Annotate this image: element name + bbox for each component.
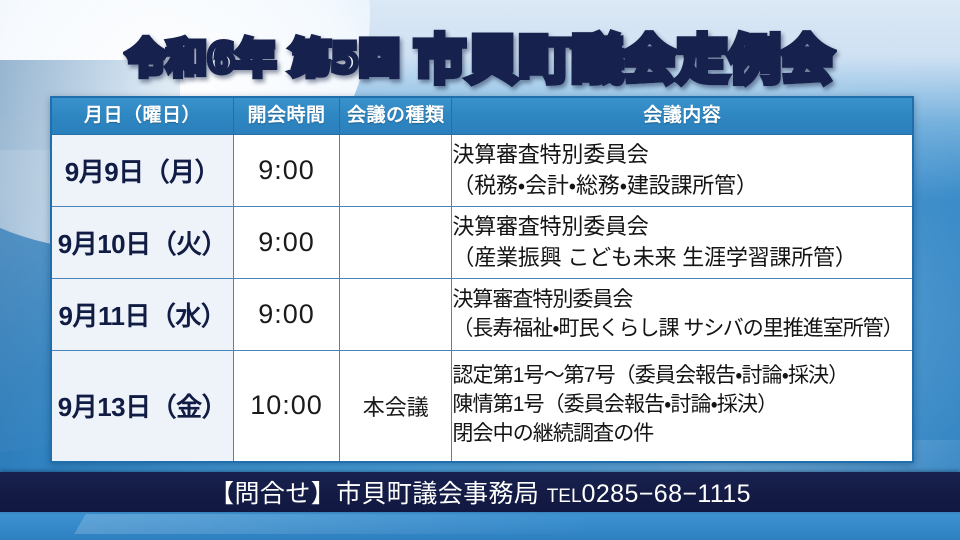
title-lead-text: 令和6年 第5回: [126, 26, 400, 84]
cell-time: 9:00: [233, 279, 339, 351]
content-line: （産業振興 こども未来 生涯学習課所管）: [452, 243, 912, 273]
contact-text: 【問合せ】市貝町議会事務局 TEL0285−68−1115: [209, 474, 751, 510]
content-line: （長寿福祉・町民くらし課 サシバの里推進室所管）: [452, 315, 912, 344]
cell-type: 本会議: [340, 351, 452, 462]
content-line: 認定第1号〜第7号（委員会報告・討論・採決）: [452, 362, 912, 391]
cell-type: [340, 207, 452, 279]
cell-date: 9月9日（月）: [51, 135, 233, 207]
table-header-row: 月日（曜日） 開会時間 会議の種類 会議内容: [51, 97, 913, 135]
page-title: 令和6年 第5回 市貝町議会定例会: [0, 22, 960, 88]
column-header-type: 会議の種類: [340, 97, 452, 135]
contact-phone-number: 0285−68−1115: [582, 480, 751, 508]
contact-label: 【問合せ】市貝町議会事務局: [209, 480, 539, 508]
table-row: 9月11日（水） 9:00 決算審査特別委員会 （長寿福祉・町民くらし課 サシバ…: [51, 279, 913, 351]
cell-content: 決算審査特別委員会 （税務・会計・総務・建設課所管）: [452, 135, 913, 207]
cell-time: 9:00: [233, 207, 339, 279]
cell-date: 9月13日（金）: [51, 351, 233, 462]
cell-date: 9月11日（水）: [51, 279, 233, 351]
table-row: 9月10日（火） 9:00 決算審査特別委員会 （産業振興 こども未来 生涯学習…: [51, 207, 913, 279]
contact-bar: 【問合せ】市貝町議会事務局 TEL0285−68−1115: [0, 472, 960, 512]
background-bottom-sheen: [74, 514, 726, 534]
cell-date: 9月10日（火）: [51, 207, 233, 279]
title-main-text: 市貝町議会定例会: [414, 18, 834, 93]
cell-content: 認定第1号〜第7号（委員会報告・討論・採決） 陳情第1号（委員会報告・討論・採決…: [452, 351, 913, 462]
content-line: 決算審査特別委員会: [452, 286, 912, 315]
cell-time: 9:00: [233, 135, 339, 207]
cell-content: 決算審査特別委員会 （長寿福祉・町民くらし課 サシバの里推進室所管）: [452, 279, 913, 351]
column-header-content: 会議内容: [452, 97, 913, 135]
tel-icon: TEL: [547, 486, 582, 507]
cell-content: 決算審査特別委員会 （産業振興 こども未来 生涯学習課所管）: [452, 207, 913, 279]
content-line: 決算審査特別委員会: [452, 212, 912, 242]
schedule-table: 月日（曜日） 開会時間 会議の種類 会議内容 9月9日（月） 9:00 決算審査…: [50, 96, 914, 463]
cell-time: 10:00: [233, 351, 339, 462]
column-header-date: 月日（曜日）: [51, 97, 233, 135]
table-row: 9月13日（金） 10:00 本会議 認定第1号〜第7号（委員会報告・討論・採決…: [51, 351, 913, 462]
content-line: （税務・会計・総務・建設課所管）: [452, 171, 912, 201]
table-row: 9月9日（月） 9:00 決算審査特別委員会 （税務・会計・総務・建設課所管）: [51, 135, 913, 207]
cell-type: [340, 279, 452, 351]
cell-type: [340, 135, 452, 207]
content-line: 閉会中の継続調査の件: [452, 420, 912, 449]
column-header-time: 開会時間: [233, 97, 339, 135]
content-line: 陳情第1号（委員会報告・討論・採決）: [452, 391, 912, 420]
content-line: 決算審査特別委員会: [452, 140, 912, 170]
